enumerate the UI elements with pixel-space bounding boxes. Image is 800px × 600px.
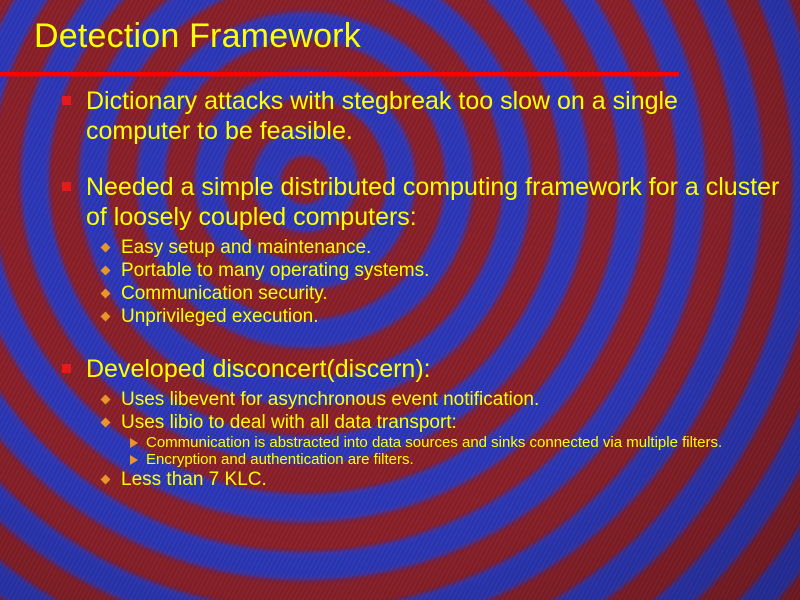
bullet-text: Needed a simple distributed computing fr… bbox=[86, 173, 779, 231]
diamond-bullet-icon bbox=[101, 418, 111, 428]
diamond-bullet-icon bbox=[101, 475, 111, 485]
slide-body: Dictionary attacks with stegbreak too sl… bbox=[0, 86, 800, 491]
bullet-text: Easy setup and maintenance. bbox=[121, 237, 371, 258]
diamond-bullet-icon bbox=[101, 266, 111, 276]
square-bullet-icon bbox=[62, 364, 71, 373]
bullet-level1: Needed a simple distributed computing fr… bbox=[60, 172, 786, 232]
bullet-text: Portable to many operating systems. bbox=[121, 260, 429, 281]
bullet-text: Uses libevent for asynchronous event not… bbox=[121, 389, 539, 410]
bullet-level2: Communication security. bbox=[98, 282, 781, 305]
diamond-bullet-icon bbox=[101, 312, 111, 322]
bullet-level2: Uses libevent for asynchronous event not… bbox=[98, 388, 781, 411]
triangle-bullet-icon bbox=[130, 455, 138, 465]
diamond-bullet-icon bbox=[101, 243, 111, 253]
diamond-bullet-icon bbox=[101, 289, 111, 299]
title-divider-rule bbox=[0, 72, 679, 76]
bullet-text: Communication is abstracted into data so… bbox=[146, 434, 722, 451]
bullet-level3: Encryption and authentication are filter… bbox=[128, 451, 726, 468]
bullet-text: Dictionary attacks with stegbreak too sl… bbox=[86, 87, 678, 145]
square-bullet-icon bbox=[62, 182, 71, 191]
triangle-bullet-icon bbox=[130, 438, 138, 448]
slide-title: Detection Framework bbox=[34, 14, 361, 58]
bullet-text: Less than 7 KLC. bbox=[121, 469, 267, 490]
bullet-text: Uses libio to deal with all data transpo… bbox=[121, 412, 457, 433]
bullet-text: Unprivileged execution. bbox=[121, 306, 319, 327]
bullet-level2: Unprivileged execution. bbox=[98, 305, 781, 328]
bullet-level1: Dictionary attacks with stegbreak too sl… bbox=[60, 86, 786, 146]
spacer bbox=[0, 146, 800, 172]
bullet-level2: Less than 7 KLC. bbox=[98, 468, 781, 491]
bullet-level1: Developed disconcert(discern): bbox=[60, 354, 786, 384]
bullet-text: Communication security. bbox=[121, 283, 328, 304]
spacer bbox=[0, 328, 800, 354]
bullet-text: Developed disconcert(discern): bbox=[86, 355, 431, 383]
bullet-level3: Communication is abstracted into data so… bbox=[128, 434, 726, 451]
bullet-level2: Uses libio to deal with all data transpo… bbox=[98, 411, 781, 434]
square-bullet-icon bbox=[62, 96, 71, 105]
bullet-text: Encryption and authentication are filter… bbox=[146, 451, 414, 468]
presentation-slide: Detection Framework Dictionary attacks w… bbox=[0, 0, 800, 600]
bullet-level2: Portable to many operating systems. bbox=[98, 259, 781, 282]
bullet-level2: Easy setup and maintenance. bbox=[98, 236, 781, 259]
diamond-bullet-icon bbox=[101, 395, 111, 405]
